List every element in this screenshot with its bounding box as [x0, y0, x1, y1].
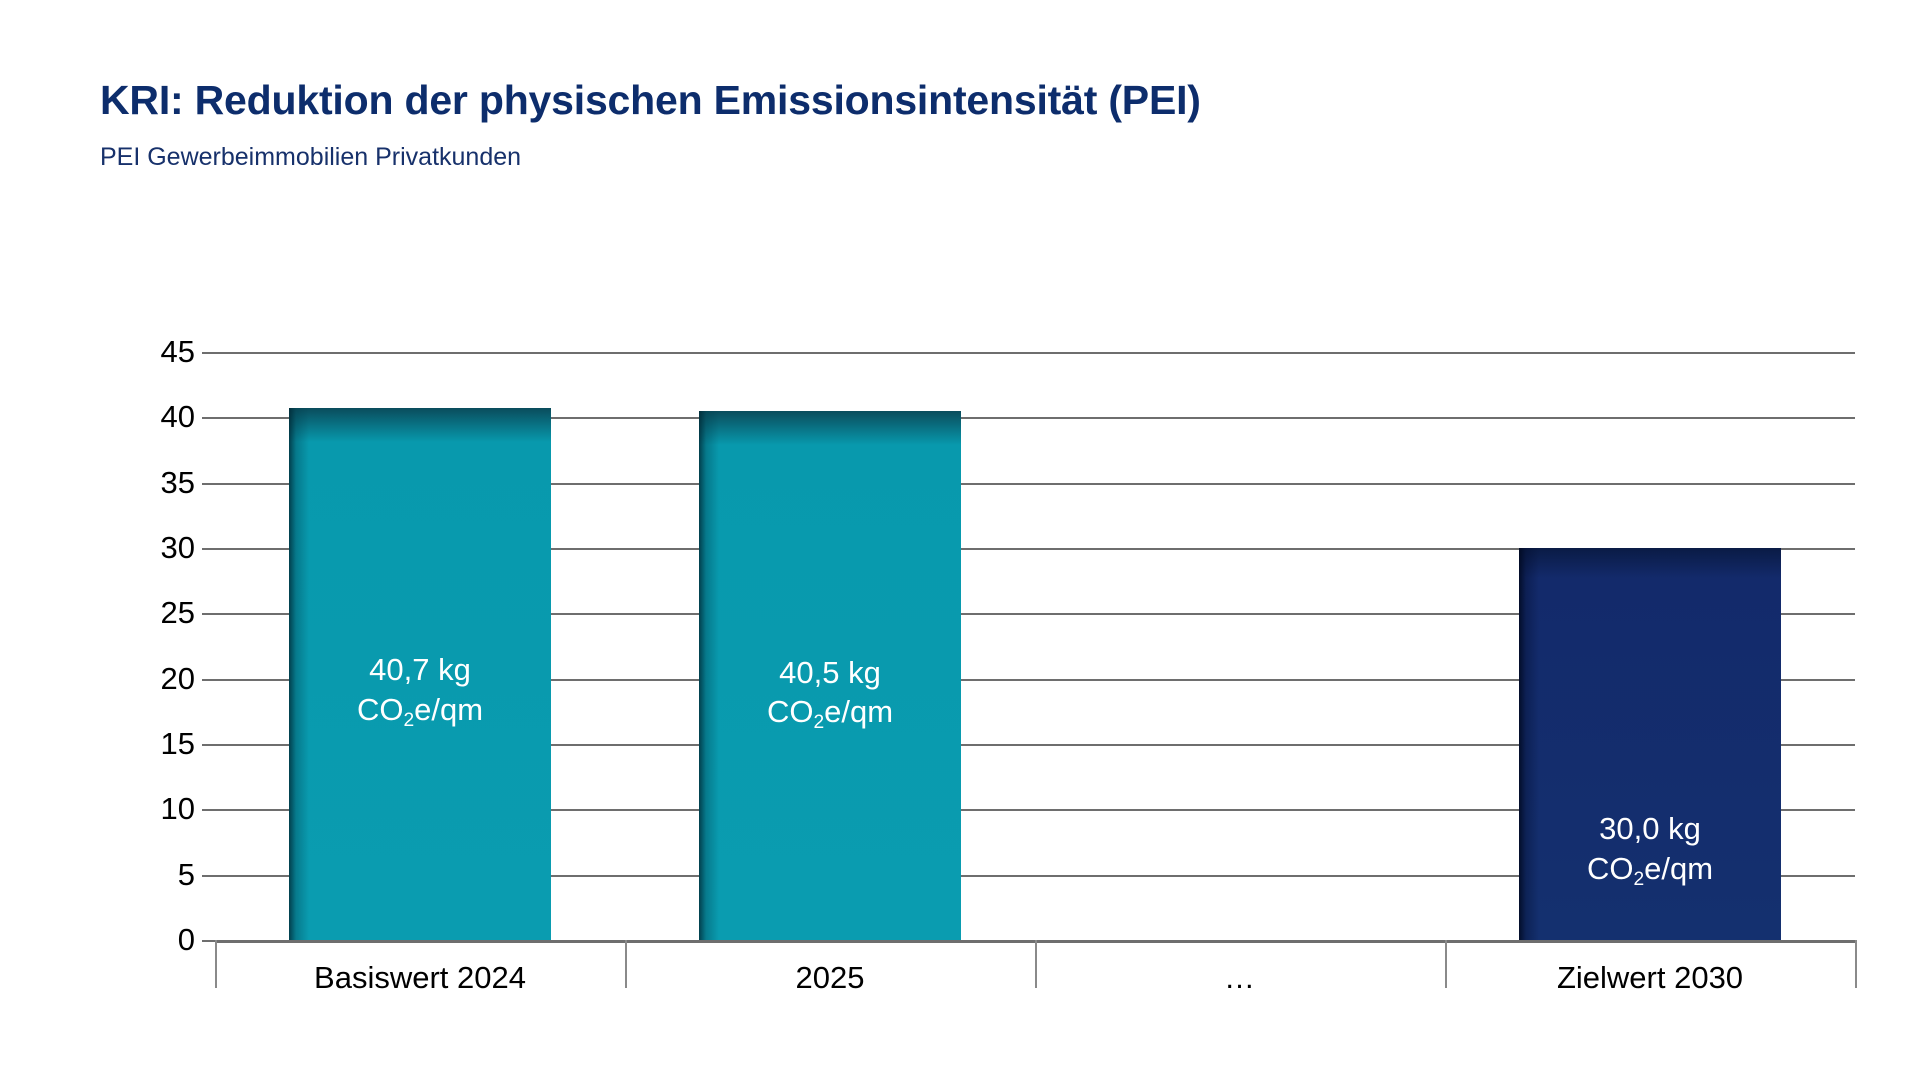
- y-axis-tick-label: 30: [75, 530, 195, 566]
- chart-page: KRI: Reduktion der physischen Emissionsi…: [0, 0, 1920, 1080]
- y-axis-tick-label: 20: [75, 661, 195, 697]
- y-axis-tick-label: 35: [75, 465, 195, 501]
- x-axis-labels: Basiswert 20242025…Zielwert 2030: [215, 960, 1855, 1020]
- bar-fill: [289, 408, 551, 940]
- y-axis-tick-label: 5: [75, 857, 195, 893]
- y-axis-tick-label: 45: [75, 334, 195, 370]
- y-axis-tick: [202, 940, 215, 942]
- x-axis-label: 2025: [796, 960, 865, 996]
- y-axis-tick: [202, 613, 215, 615]
- y-axis-tick: [202, 483, 215, 485]
- bar-fill: [1519, 548, 1781, 940]
- x-axis-label: Basiswert 2024: [314, 960, 526, 996]
- plot-area: 45403530252015105040,7 kgCO2e/qm40,5 kgC…: [215, 352, 1855, 940]
- x-axis-label: Zielwert 2030: [1557, 960, 1743, 996]
- y-axis-tick-label: 15: [75, 726, 195, 762]
- y-axis-tick-label: 10: [75, 791, 195, 827]
- y-axis-tick: [202, 417, 215, 419]
- bar[interactable]: 40,7 kgCO2e/qm: [289, 408, 551, 940]
- bar-fill: [699, 411, 961, 940]
- bar[interactable]: 40,5 kgCO2e/qm: [699, 411, 961, 940]
- bar[interactable]: 30,0 kgCO2e/qm: [1519, 548, 1781, 940]
- y-axis-tick: [202, 548, 215, 550]
- y-axis-tick-label: 0: [75, 922, 195, 958]
- y-axis-tick: [202, 352, 215, 354]
- y-axis-tick: [202, 744, 215, 746]
- y-axis-tick-label: 40: [75, 399, 195, 435]
- x-axis-label: …: [1224, 960, 1256, 996]
- category-separator: [1855, 940, 1857, 988]
- gridline: [215, 352, 1855, 354]
- plot-wrapper: 45403530252015105040,7 kgCO2e/qm40,5 kgC…: [0, 0, 1920, 1080]
- y-axis-tick: [202, 809, 215, 811]
- y-axis-tick: [202, 679, 215, 681]
- y-axis-tick-label: 25: [75, 595, 195, 631]
- y-axis-tick: [202, 875, 215, 877]
